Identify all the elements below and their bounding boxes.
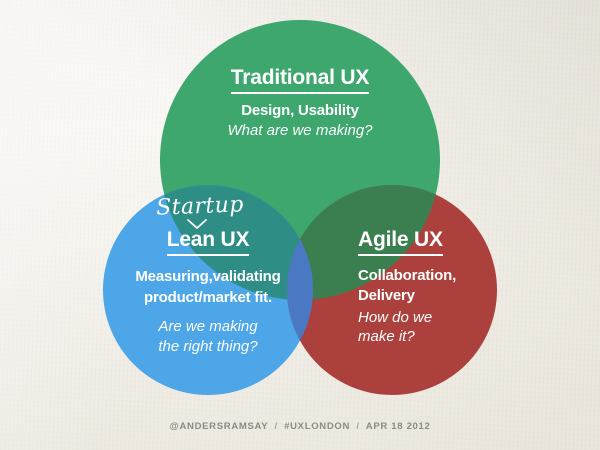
lobe-agile-ux: Agile UX Collaboration, Delivery How do … bbox=[358, 228, 518, 347]
agile-subtitle-line2: Delivery bbox=[358, 286, 518, 307]
lobe-lean-ux: Lean UX Measuring,validating product/mar… bbox=[108, 228, 308, 356]
agile-heading: Agile UX bbox=[358, 228, 443, 256]
lean-question-line2: the right thing? bbox=[108, 337, 308, 357]
agile-question-line2: make it? bbox=[358, 328, 518, 347]
lean-subtitle-line2: product/market fit. bbox=[108, 287, 308, 308]
lean-subtitle-line1: Measuring,validating bbox=[108, 266, 308, 287]
footer-separator-1: / bbox=[271, 421, 280, 432]
agile-subtitle-line1: Collaboration, bbox=[358, 266, 518, 287]
lean-question: Are we making the right thing? bbox=[108, 317, 308, 356]
agile-question: How do we make it? bbox=[358, 309, 518, 347]
lean-subtitle: Measuring,validating product/market fit. bbox=[108, 266, 308, 309]
traditional-question: What are we making? bbox=[180, 122, 420, 140]
footer-separator-2: / bbox=[353, 421, 362, 432]
traditional-heading: Traditional UX bbox=[231, 66, 369, 94]
footer-date: APR 18 2012 bbox=[366, 421, 431, 432]
slide-canvas: Traditional UX Design, Usability What ar… bbox=[0, 0, 600, 450]
footer-handle: @ANDERSRAMSAY bbox=[169, 421, 268, 432]
lean-heading: Lean UX bbox=[167, 228, 250, 256]
agile-subtitle: Collaboration, Delivery bbox=[358, 266, 518, 307]
lobe-traditional-ux: Traditional UX Design, Usability What ar… bbox=[180, 66, 420, 140]
agile-question-line1: How do we bbox=[358, 309, 518, 328]
lean-question-line1: Are we making bbox=[108, 317, 308, 337]
startup-script-label: Startup bbox=[140, 192, 261, 222]
traditional-subtitle: Design, Usability bbox=[180, 102, 420, 120]
footer-credit: @ANDERSRAMSAY / #UXLONDON / APR 18 2012 bbox=[0, 421, 600, 432]
footer-hashtag: #UXLONDON bbox=[284, 421, 350, 432]
